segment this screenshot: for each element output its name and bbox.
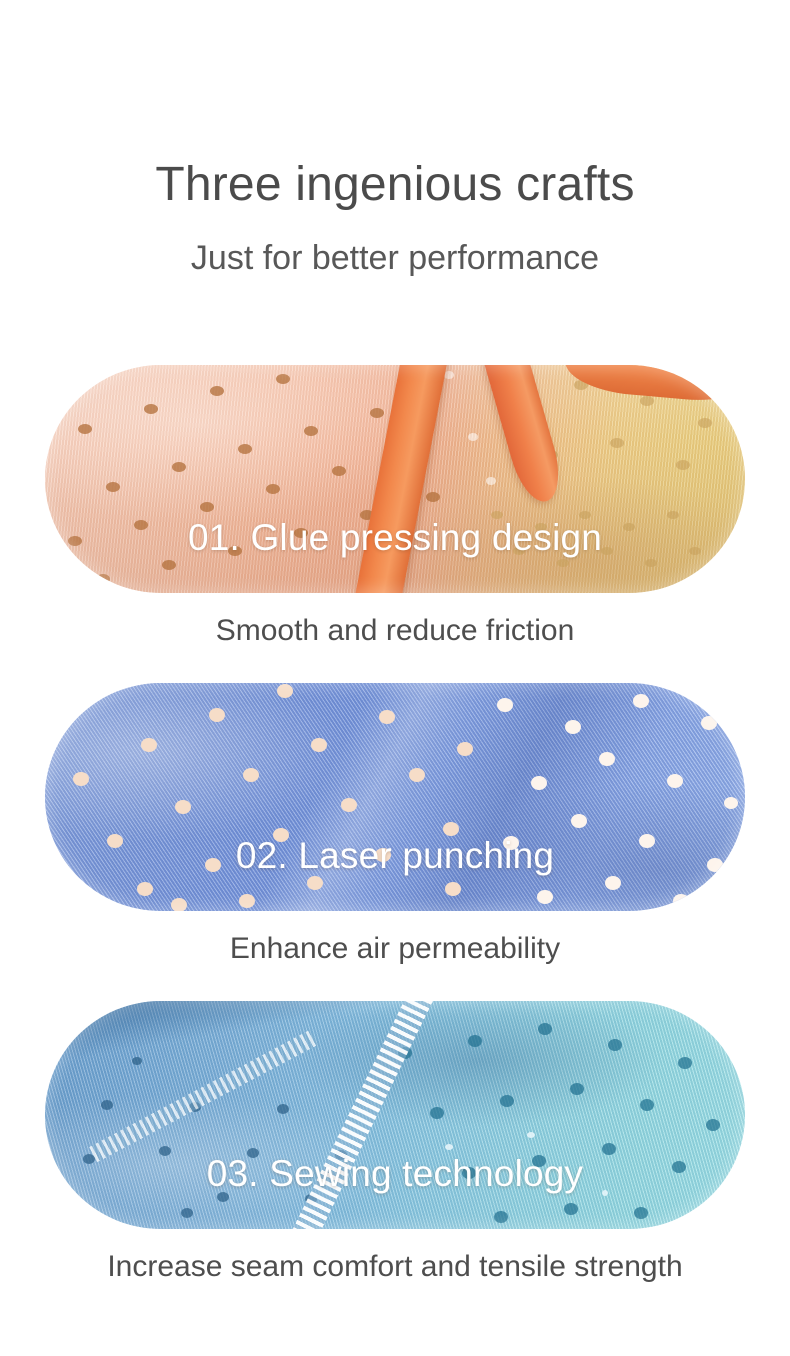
page-header: Three ingenious crafts Just for better p… <box>0 155 790 280</box>
craft-caption-glue-pressing: Smooth and reduce friction <box>0 613 790 649</box>
craft-image-laser-punching: 02. Laser punching <box>45 683 745 911</box>
page-title: Three ingenious crafts <box>0 155 790 215</box>
craft-caption-sewing-technology: Increase seam comfort and tensile streng… <box>0 1249 790 1285</box>
craft-item-laser-punching: 02. Laser punching Enhance air permeabil… <box>0 683 790 967</box>
perforation-dots-blue <box>45 683 745 911</box>
craft-caption-laser-punching: Enhance air permeability <box>0 931 790 967</box>
product-feature-page: Three ingenious crafts Just for better p… <box>0 0 790 1356</box>
page-subtitle: Just for better performance <box>0 237 790 280</box>
craft-image-glue-pressing: 01. Glue pressing design <box>45 365 745 593</box>
craft-image-sewing-technology: 03. Sewing technology <box>45 1001 745 1229</box>
craft-item-glue-pressing: 01. Glue pressing design Smooth and redu… <box>0 365 790 649</box>
craft-item-sewing-technology: 03. Sewing technology Increase seam comf… <box>0 1001 790 1285</box>
craft-list: 01. Glue pressing design Smooth and redu… <box>0 365 790 1285</box>
